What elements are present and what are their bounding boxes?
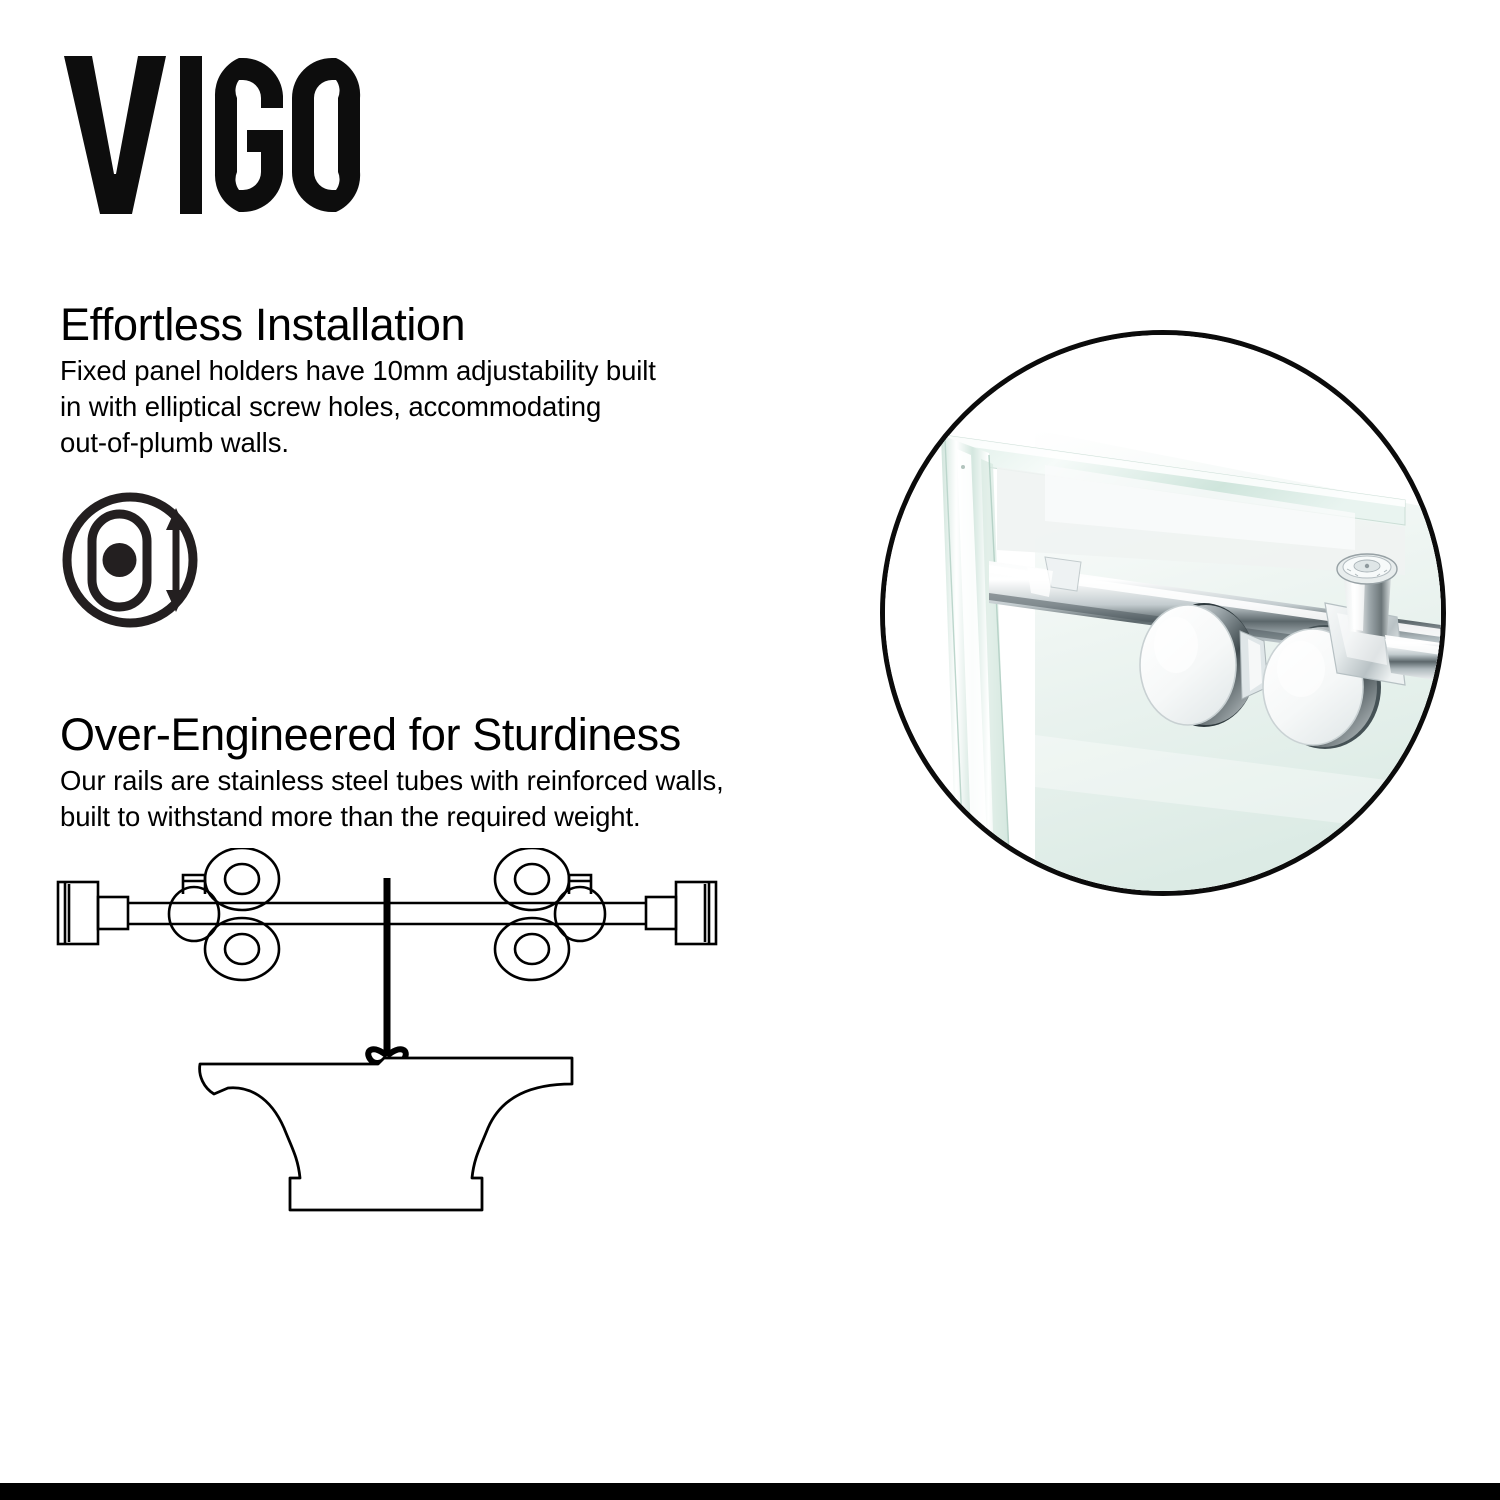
feature-body-line: Fixed panel holders have 10mm adjustabil… [60, 353, 790, 389]
feature-block-over-engineered: Over-Engineered for Sturdiness Our rails… [60, 712, 800, 835]
feature-body-line: in with elliptical screw holes, accommod… [60, 389, 790, 425]
infographic-page: Effortless Installation Fixed panel hold… [0, 0, 1500, 1500]
feature-heading: Over-Engineered for Sturdiness [60, 712, 800, 759]
feature-body: Our rails are stainless steel tubes with… [60, 763, 800, 835]
feature-body-line: built to withstand more than the require… [60, 799, 800, 835]
shower-door-roller-hardware-photo [880, 330, 1446, 896]
feature-body: Fixed panel holders have 10mm adjustabil… [60, 353, 790, 461]
rail-anvil-load-diagram [52, 848, 722, 1228]
adjustability-slot-icon [58, 488, 218, 633]
vigo-logo [62, 46, 362, 226]
feature-block-effortless-installation: Effortless Installation Fixed panel hold… [60, 302, 790, 461]
feature-body-line: Our rails are stainless steel tubes with… [60, 763, 800, 799]
feature-heading: Effortless Installation [60, 302, 790, 349]
bottom-bar [0, 1483, 1500, 1500]
feature-body-line: out-of-plumb walls. [60, 425, 790, 461]
